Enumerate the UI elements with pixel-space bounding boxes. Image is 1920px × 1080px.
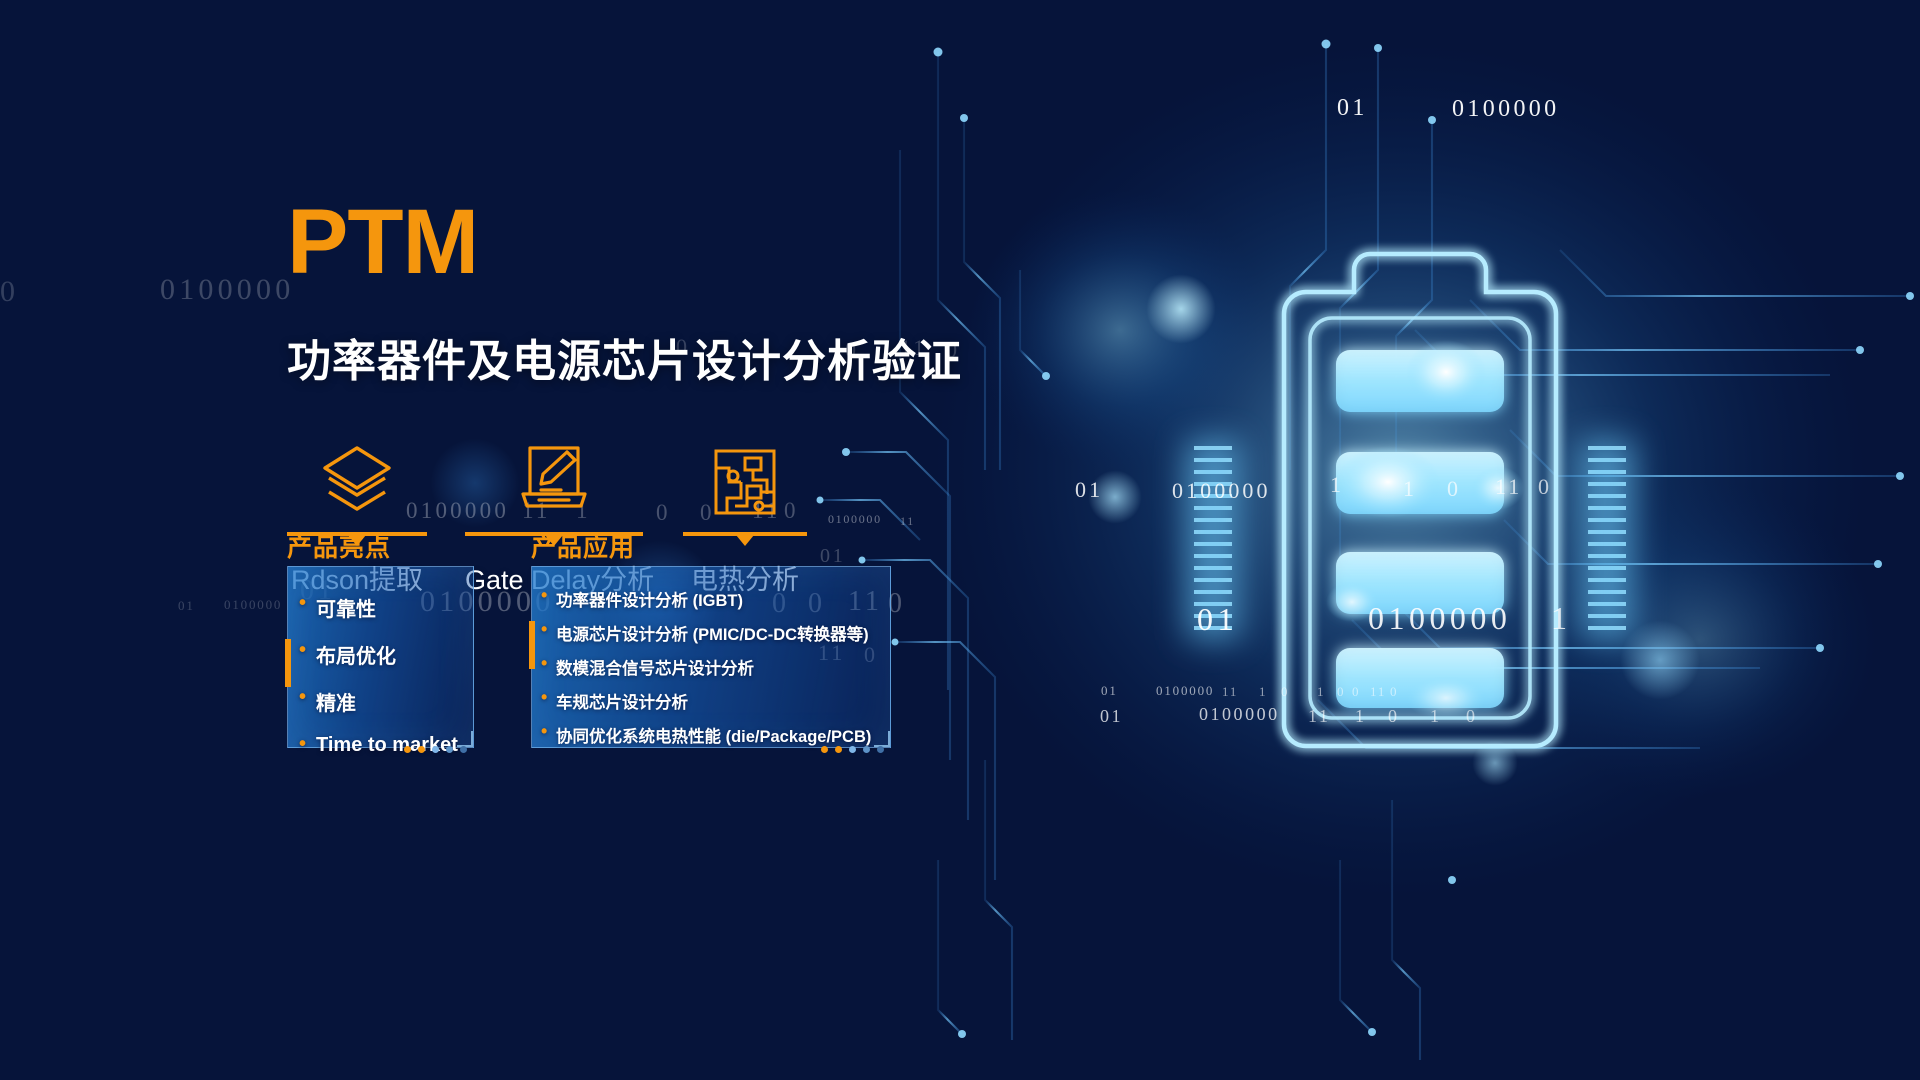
list-item: 数模混合信号芯片设计分析: [556, 655, 890, 679]
circuit-chip-icon: [683, 440, 807, 518]
glowing-battery-icon: [1240, 230, 1600, 770]
brand-logo-ptm: PTM: [287, 196, 478, 288]
list-item: 布局优化: [316, 640, 473, 669]
card-dots: [404, 746, 467, 753]
banner-stage: 0101000000100000011100110010000011100110…: [0, 0, 1920, 1080]
heading-product-highlights: 产品亮点: [287, 528, 391, 564]
heading-product-applications: 产品应用: [531, 528, 635, 564]
card-accent-bar: [529, 621, 535, 669]
glow-dot: [1088, 470, 1142, 524]
list-item: 电源芯片设计分析 (PMIC/DC-DC转换器等): [556, 621, 890, 645]
binary-text: 11: [1222, 684, 1238, 700]
list-item: 可靠性: [316, 593, 473, 622]
glow-dot: [1620, 620, 1700, 700]
card-corner-mark: [457, 731, 473, 747]
list-item: 精准: [316, 687, 473, 716]
card-accent-bar: [285, 639, 291, 687]
list-item: 协同优化系统电热性能 (die/Package/PCB): [556, 723, 890, 747]
binary-text: 01: [1101, 683, 1118, 699]
binary-text: 01: [1337, 95, 1368, 122]
glow-dot: [1146, 274, 1216, 344]
binary-text: 0100000: [1156, 683, 1214, 699]
card-product-highlights: 可靠性 布局优化 精准 Time to market: [287, 566, 474, 748]
binary-text: 0100000: [1452, 96, 1560, 123]
binary-text: 01: [1197, 601, 1238, 638]
applications-list: 功率器件设计分析 (IGBT) 电源芯片设计分析 (PMIC/DC-DC转换器等…: [532, 567, 890, 747]
card-product-applications: 功率器件设计分析 (IGBT) 电源芯片设计分析 (PMIC/DC-DC转换器等…: [531, 566, 891, 748]
binary-text: 01: [1075, 477, 1103, 503]
list-item: 功率器件设计分析 (IGBT): [556, 587, 890, 611]
content-panel: PTM 功率器件及电源芯片设计分析验证 Rdson提取: [0, 0, 960, 1080]
page-subtitle: 功率器件及电源芯片设计分析验证: [287, 325, 962, 389]
layers-stack-icon: [287, 440, 427, 518]
binary-text: 01: [1100, 706, 1123, 727]
laptop-pen-icon: [465, 440, 643, 518]
highlights-list: 可靠性 布局优化 精准 Time to market: [288, 567, 473, 757]
card-corner-mark: [874, 731, 890, 747]
list-item: 车规芯片设计分析: [556, 689, 890, 713]
card-dots: [821, 746, 884, 753]
feature-divider: [683, 532, 807, 536]
